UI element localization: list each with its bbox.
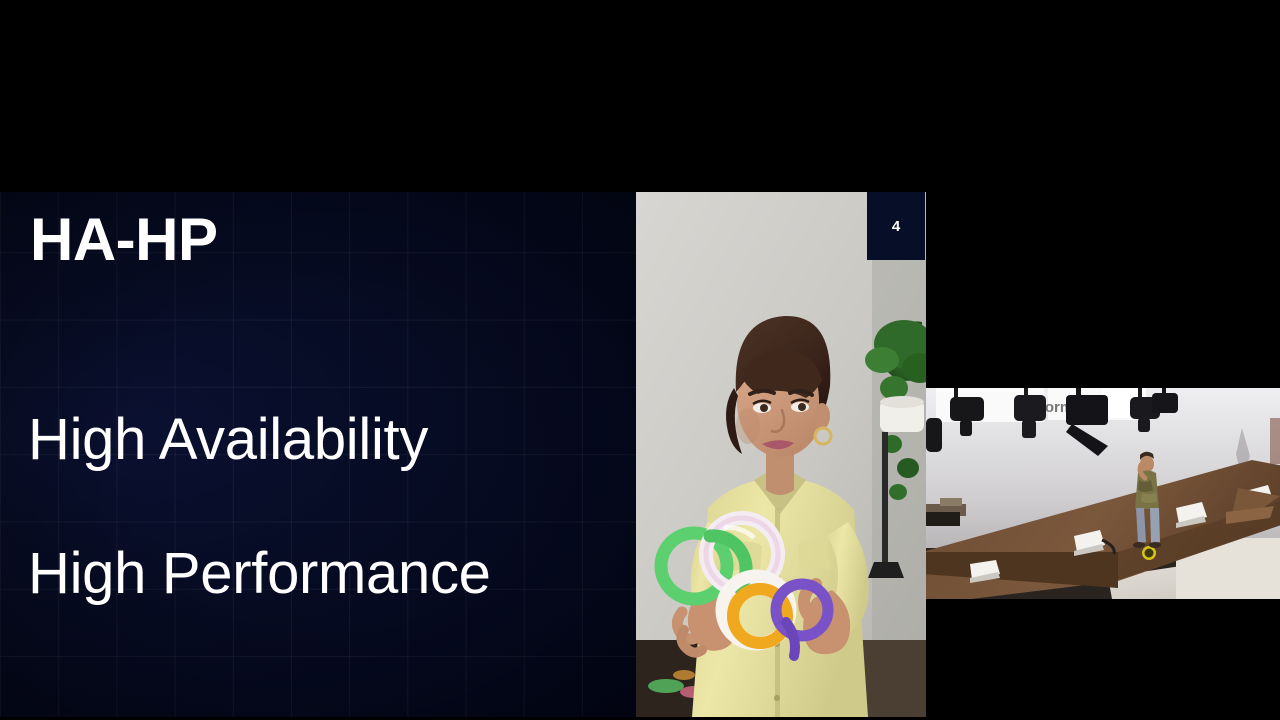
slide-title: HA-HP xyxy=(30,208,218,271)
presenter-photo xyxy=(636,192,926,717)
slide-number-badge: 4 xyxy=(867,192,925,260)
stage-camera-pip: rform xyxy=(926,388,1280,599)
screen-root: HA-HP High Availability High Performance xyxy=(0,0,1280,720)
slide-bullet-high-performance: High Performance xyxy=(28,544,491,605)
slide-bullet-high-availability: High Availability xyxy=(28,410,428,471)
video-frame: HA-HP High Availability High Performance xyxy=(0,96,1280,621)
slide-panel: HA-HP High Availability High Performance xyxy=(0,192,636,717)
